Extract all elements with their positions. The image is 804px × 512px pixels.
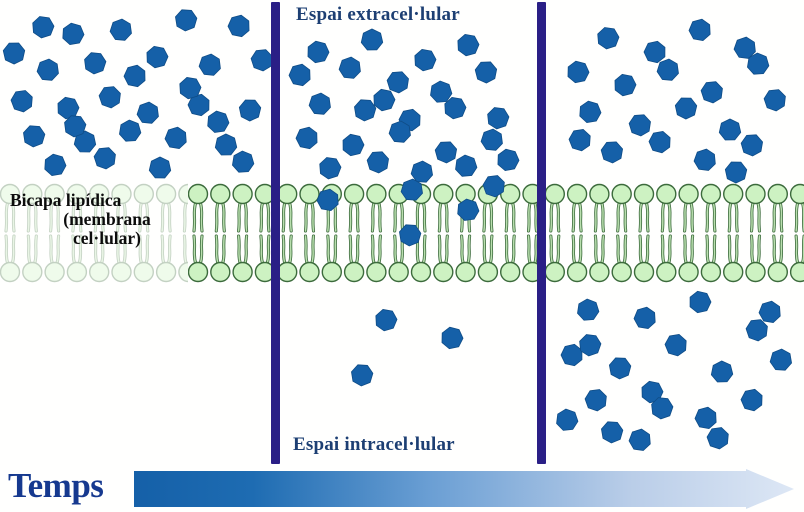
lipid-molecule-inner-leaflet [545,236,564,282]
solute-particle [339,57,360,78]
solute-particle [374,89,395,110]
solute-particle [351,365,372,386]
solute-particle [690,291,711,312]
lipid-molecule-outer-leaflet [389,185,408,232]
lipid-molecule-outer-leaflet [300,185,319,232]
solute-particle [431,81,452,102]
solute-particle [3,43,24,64]
lipid-molecule-outer-leaflet [456,185,475,232]
time-direction-arrow [134,469,799,511]
solute-particle [652,398,673,419]
lipid-molecule-outer-leaflet [701,185,720,232]
lipid-molecule-outer-leaflet [278,185,297,232]
solute-particle [232,151,253,172]
solute-particle [94,148,115,169]
lipid-molecule-inner-leaflet [724,236,743,282]
lipid-molecule-inner-leaflet [233,236,252,282]
solute-particle [188,94,209,115]
solute-particle [387,72,408,93]
solute-particle [445,97,466,118]
solute-particle [719,119,740,140]
membrane-label-line-2: (membrana [6,210,194,229]
lipid-molecule-outer-leaflet [412,185,431,232]
solute-particle [642,381,663,402]
solute-particle [33,17,54,38]
solute-particle [110,19,131,40]
lipid-molecule-inner-leaflet [278,236,297,282]
lipid-molecule-inner-leaflet [746,236,765,282]
solute-particle [629,429,650,450]
solute-particle [665,334,686,355]
solute-particle [601,142,622,163]
solute-particle [239,100,260,121]
solute-particle [361,29,382,50]
lipid-molecule-outer-leaflet [478,185,497,232]
solute-particle [657,59,678,80]
solute-particle [228,15,249,36]
solute-particle [615,74,636,95]
lipid-molecule-inner-leaflet [701,236,720,282]
solute-particle [707,428,728,449]
solute-particle [175,10,196,31]
lipid-molecule-outer-leaflet [768,185,787,232]
solute-particle [725,162,746,183]
lipid-molecule-outer-leaflet [590,185,609,232]
lipid-molecule-outer-leaflet [657,185,676,232]
solute-particle [367,152,388,173]
solute-particle [675,98,696,119]
lipid-molecule-outer-leaflet [724,185,743,232]
solute-particle [289,64,310,85]
membrane-label: Bicapa lipídica (membrana cel·lular) [6,191,194,248]
solute-particle [296,127,317,148]
solute-particle [741,135,762,156]
solute-particle [481,129,502,150]
solute-particle [569,129,590,150]
lipid-molecule-inner-leaflet [412,236,431,282]
lipid-molecule-outer-leaflet [233,185,252,232]
solute-particle [580,101,601,122]
solute-particle [411,161,432,182]
solute-particle [580,335,601,356]
solute-particle [58,97,79,118]
solute-particle [644,41,665,62]
solute-particle [601,422,622,443]
solute-particle [609,358,630,379]
solute-particle [711,361,732,382]
solute-particle [137,102,158,123]
lipid-molecule-outer-leaflet [434,185,453,232]
solute-particle [561,344,582,365]
membrane-label-line-1: Bicapa lipídica [6,191,194,210]
lipid-molecule-inner-leaflet [211,236,230,282]
solute-particle [354,100,375,121]
solute-particle [389,121,410,142]
solute-particle [764,90,785,111]
solute-particle [376,309,397,330]
solute-particle [149,157,170,178]
time-axis-label: Temps [8,466,103,506]
solute-particle [475,62,496,83]
lipid-molecule-inner-leaflet [478,236,497,282]
solute-particle [435,142,456,163]
solute-particle [568,61,589,82]
lipid-molecule-outer-leaflet [612,185,631,232]
solute-particle [694,149,715,170]
lipid-molecule-inner-leaflet [434,236,453,282]
solute-particle [456,155,477,176]
solute-particle [695,407,716,428]
solute-particle [119,120,140,141]
solute-particle [208,111,229,132]
solute-particle [320,157,341,178]
time-divider-bar-left [271,2,280,464]
solute-particle [634,307,655,328]
solute-particle [770,349,791,370]
lipid-molecule-inner-leaflet [768,236,787,282]
solute-particle [99,87,120,108]
solute-particle [23,126,44,147]
solute-particle [701,82,722,103]
solute-particle [63,23,84,44]
lipid-molecule-outer-leaflet [322,185,341,232]
lipid-molecule-inner-leaflet [501,236,520,282]
intracellular-space-label: Espai intracel·lular [293,434,455,456]
lipid-molecule-outer-leaflet [791,185,804,232]
lipid-molecule-outer-leaflet [746,185,765,232]
extracellular-space-label: Espai extracel·lular [296,4,460,26]
solute-particle [488,108,509,129]
lipid-molecule-inner-leaflet [367,236,386,282]
solute-particle [165,127,186,148]
lipid-molecule-outer-leaflet [211,185,230,232]
time-axis: Temps [0,466,804,512]
solute-particle [65,116,86,137]
lipid-molecule-outer-leaflet [345,185,364,232]
lipid-molecule-outer-leaflet [501,185,520,232]
lipid-molecule-outer-leaflet [367,185,386,232]
lipid-molecule-inner-leaflet [612,236,631,282]
lipid-molecule-inner-leaflet [389,236,408,282]
lipid-molecule-inner-leaflet [300,236,319,282]
solute-particle [309,93,330,114]
lipid-molecule-inner-leaflet [679,236,698,282]
lipid-molecule-outer-leaflet [679,185,698,232]
solute-particle [74,131,95,152]
lipid-molecule-outer-leaflet [635,185,654,232]
solute-particle [746,320,767,341]
solute-particle [442,327,463,348]
solute-particle [458,34,479,55]
solute-particle [689,19,710,40]
solute-particle [415,49,436,70]
solute-particle [598,28,619,49]
solute-particle [124,65,145,86]
solute-particle [498,149,519,170]
solute-particle [734,37,755,58]
solute-particle [199,54,220,75]
lipid-molecule-inner-leaflet [590,236,609,282]
solute-particle [308,41,329,62]
time-divider-bar-right [537,2,546,464]
solute-particle [741,389,762,410]
lipid-molecule-inner-leaflet [635,236,654,282]
solute-particle [251,50,272,71]
solute-particle [85,53,106,74]
solute-particle [585,390,606,411]
membrane-label-line-3: cel·lular) [6,229,194,248]
lipid-molecule-inner-leaflet [456,236,475,282]
solute-particle [11,91,32,112]
solute-particle [147,46,168,67]
solute-particle [399,109,420,130]
solute-particle [578,299,599,320]
solute-particle [747,53,768,74]
membrane-solid-section [188,181,804,285]
lipid-molecule-inner-leaflet [657,236,676,282]
lipid-molecule-inner-leaflet [791,236,804,282]
solute-particle [629,115,650,136]
solute-particle [37,59,58,80]
lipid-molecule-inner-leaflet [568,236,587,282]
solute-particle [215,134,236,155]
solute-particle [649,131,670,152]
solute-particle [180,77,201,98]
lipid-molecule-inner-leaflet [345,236,364,282]
solute-particle [557,409,578,430]
diffusion-diagram: Espai extracel·lular Espai intracel·lula… [0,0,804,512]
solute-particle [759,301,780,322]
solute-particle [343,134,364,155]
solute-particle [45,154,66,175]
lipid-molecule-outer-leaflet [568,185,587,232]
lipid-molecule-outer-leaflet [545,185,564,232]
lipid-molecule-inner-leaflet [322,236,341,282]
